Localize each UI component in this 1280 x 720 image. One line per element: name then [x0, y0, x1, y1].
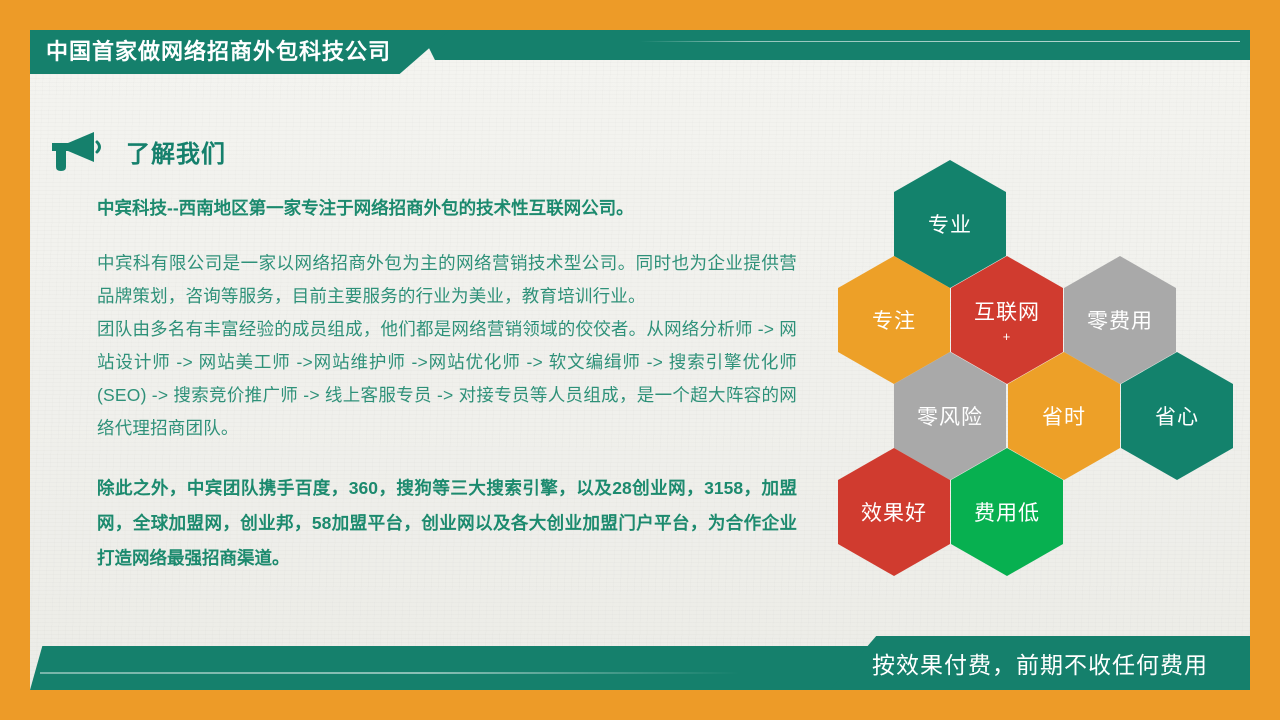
footer-hairline: [40, 672, 740, 674]
hexagon-cluster: 专业专注互联网+零费用零风险省时省心效果好费用低: [838, 160, 1238, 530]
paragraph-lead: 中宾科技--西南地区第一家专注于网络招商外包的技术性互联网公司。: [97, 192, 797, 225]
slide-root: 中国首家做网络招商外包科技公司 了解我们 中宾科技--西南地区第一家专注于网络招…: [0, 0, 1280, 720]
header-accent-strip: [420, 30, 1250, 60]
hexagon-label: 零费用: [1087, 305, 1153, 335]
paragraph-body-2: 团队由多名有丰富经验的成员组成，他们都是网络营销领域的佼佼者。从网络分析师 ->…: [97, 313, 797, 445]
section-heading: 了解我们: [50, 130, 226, 172]
footer-accent-strip: [30, 646, 910, 690]
paragraph-body-1: 中宾科有限公司是一家以网络招商外包为主的网络营销技术型公司。同时也为企业提供营品…: [97, 247, 797, 313]
header-title: 中国首家做网络招商外包科技公司: [46, 30, 391, 74]
hexagon-label: 专业: [928, 209, 972, 239]
hexagon-label: 效果好: [861, 497, 927, 527]
hexagon-label: 省心: [1155, 401, 1199, 431]
hexagon-sublabel: +: [1003, 328, 1012, 345]
megaphone-icon: [50, 130, 104, 172]
hexagon-label: 省时: [1042, 401, 1086, 431]
hexagon-label: 零风险: [917, 401, 983, 431]
hexagon-label: 费用低: [974, 497, 1040, 527]
footer-tagline: 按效果付费，前期不收任何费用: [830, 636, 1250, 690]
hexagon-label: 互联网: [974, 296, 1040, 326]
section-title: 了解我们: [126, 134, 226, 169]
paragraph-tail: 除此之外，中宾团队携手百度，360，搜狗等三大搜索引擎，以及28创业网，3158…: [97, 471, 797, 576]
body-text-column: 中宾科技--西南地区第一家专注于网络招商外包的技术性互联网公司。 中宾科有限公司…: [97, 192, 797, 576]
hexagon-label: 专注: [872, 305, 916, 335]
header-hairline: [640, 41, 1240, 42]
